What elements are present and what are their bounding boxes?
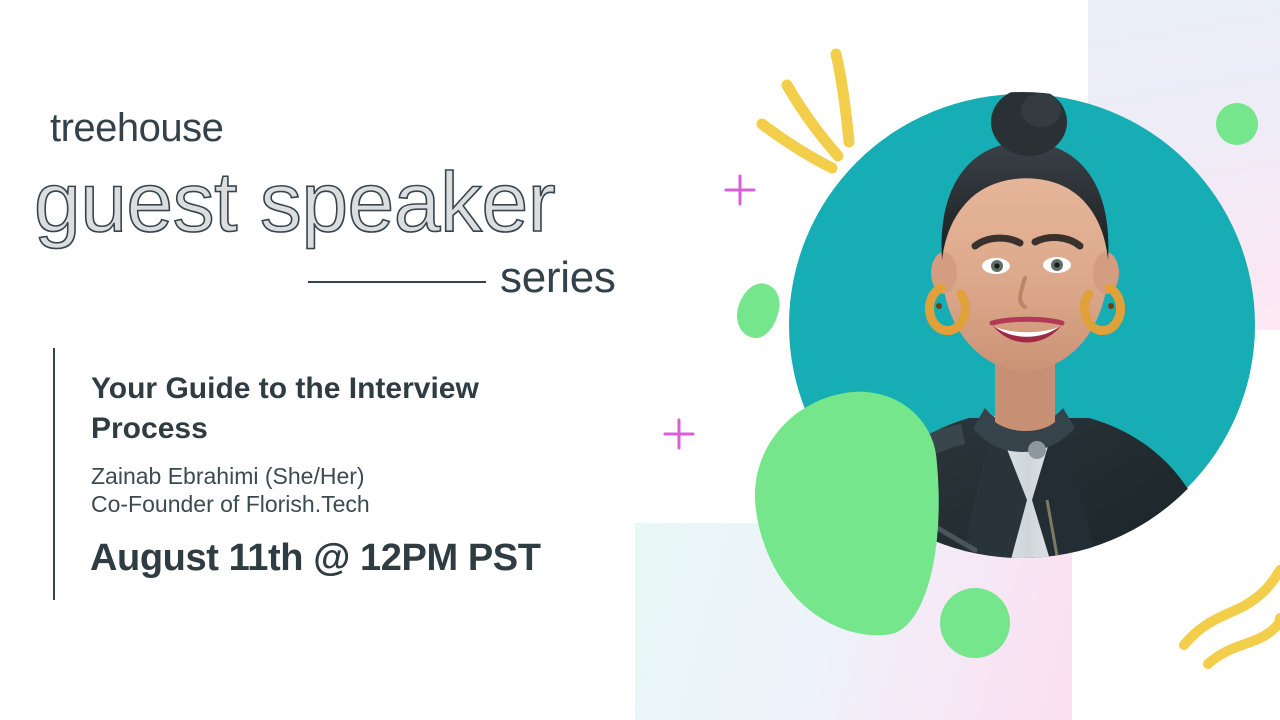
green-blob-mid-left [730, 278, 785, 343]
detail-vertical-rule [53, 348, 55, 600]
promo-graphic: treehouse guest speaker series Your Guid… [0, 0, 1280, 720]
speaker-role: Co-Founder of Florish.Tech [91, 489, 370, 520]
series-label: series [500, 256, 616, 300]
green-blob-small [940, 588, 1010, 658]
event-datetime: August 11th @ 12PM PST [90, 536, 541, 582]
magenta-plus-top [726, 176, 754, 204]
headline-outline: guest speaker [34, 158, 555, 246]
brand-wordmark: treehouse [50, 108, 223, 148]
series-divider-rule [308, 281, 486, 283]
talk-title: Your Guide to the Interview Process [91, 369, 521, 448]
text-content-column: treehouse guest speaker series Your Guid… [0, 0, 680, 720]
speaker-name: Zainab Ebrahimi (She/Her) [91, 461, 365, 492]
